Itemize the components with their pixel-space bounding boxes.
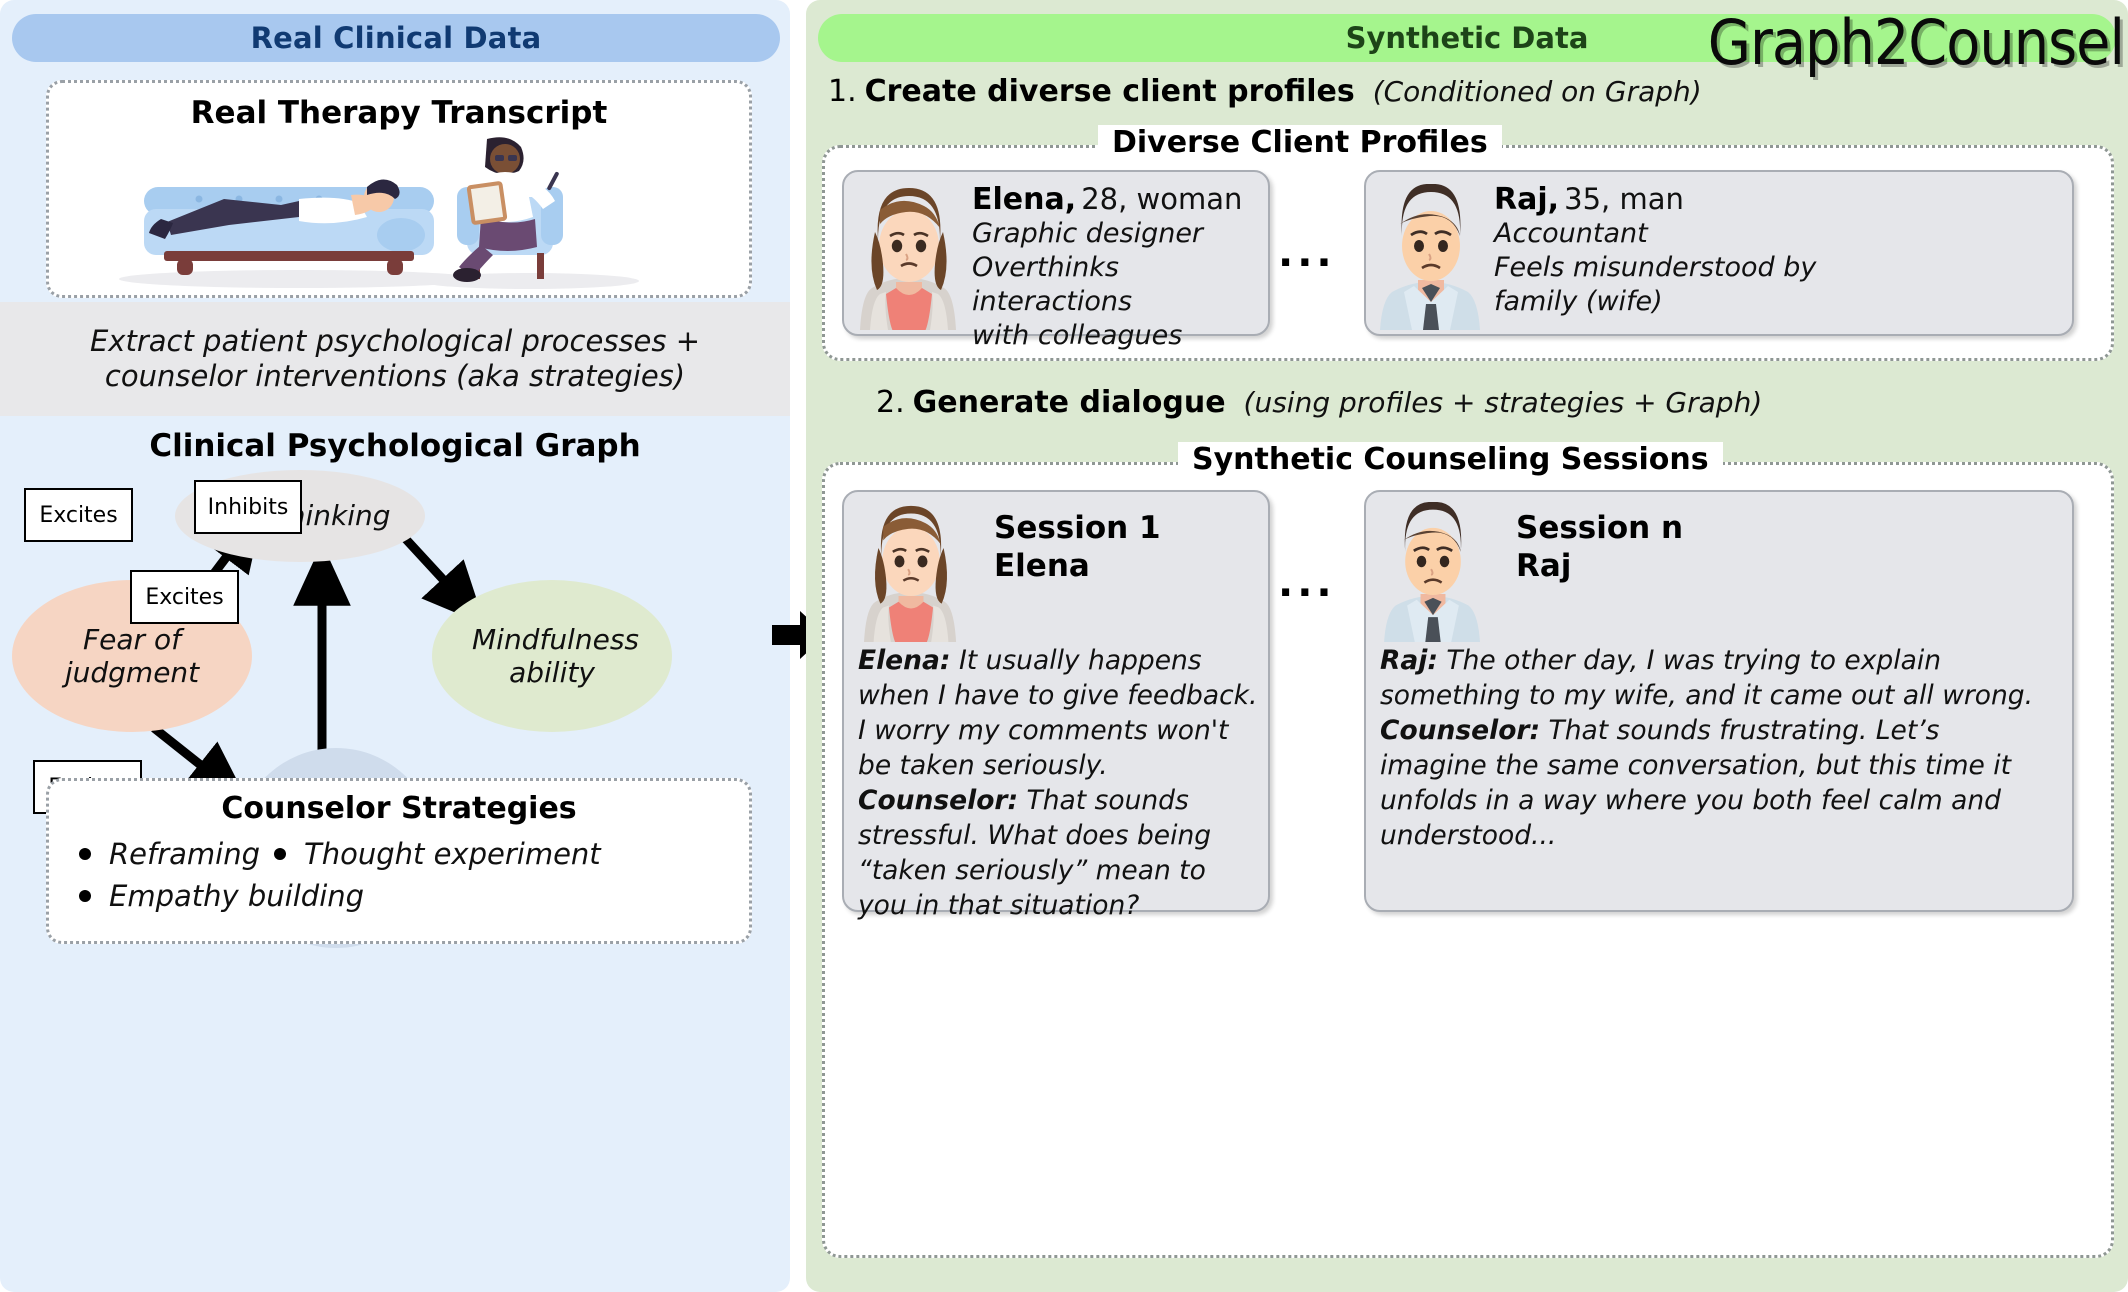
profile-line-3-elena: with colleagues — [972, 319, 1268, 353]
edge-label-excites-difficulty-overthinking: Excites — [130, 570, 239, 624]
figure-root: Real Clinical Data Real Therapy Transcri… — [0, 0, 2128, 1292]
step-1-number: 1. — [828, 74, 857, 109]
avatar-elena — [852, 502, 970, 642]
profile-line-3-raj: family (wife) — [1494, 285, 1816, 319]
dialogue-speaker-counselor: Counselor: — [858, 785, 1018, 816]
bullet-icon — [79, 890, 91, 902]
graph-node-fear-of-judgment-label: Fear of judgment — [57, 623, 207, 689]
real-therapy-transcript-title: Real Therapy Transcript — [49, 95, 749, 131]
session-title-line-2-elena: Elena — [994, 548, 1161, 586]
avatar-raj — [1374, 502, 1492, 642]
counselor-strategies-row-1: Reframing Thought experiment — [75, 837, 735, 871]
client-profile-card-elena[interactable]: Elena, 28, woman Graphic designer Overth… — [842, 170, 1270, 336]
extract-note-line-2: counselor interventions (aka strategies) — [105, 359, 685, 394]
real-therapy-transcript-box: Real Therapy Transcript — [46, 80, 752, 298]
profile-name-row-elena: Elena, 28, woman — [972, 182, 1268, 217]
profile-line-1-raj: Accountant — [1494, 217, 1816, 251]
profile-name-raj: Raj, — [1494, 182, 1559, 217]
bullet-icon — [79, 848, 91, 860]
extract-note-band: Extract patient psychological processes … — [0, 302, 790, 416]
real-clinical-data-header: Real Clinical Data — [12, 14, 780, 62]
graph-node-mindfulness-ability: Mindfulness ability — [432, 580, 672, 732]
dialogue-turn-1-raj: Raj: The other day, I was trying to expl… — [1380, 644, 2040, 714]
step-1-label: Create diverse client profiles — [865, 74, 1355, 109]
dialogue-speaker-counselor: Counselor: — [1380, 715, 1540, 746]
step-1-note: (Conditioned on Graph) — [1373, 75, 1702, 108]
strategy-item-empathy-building: Empathy building — [109, 879, 364, 913]
session-title-line-1-raj: Session n — [1516, 510, 1683, 548]
synthetic-counseling-sessions-title: Synthetic Counseling Sessions — [1178, 442, 1723, 477]
sessions-ellipsis: ... — [1278, 560, 1336, 606]
profile-name-row-raj: Raj, 35, man — [1494, 182, 1816, 217]
synthetic-data-title: Synthetic Data — [1346, 21, 1589, 55]
edge-label-inhibits-overthinking-mindfulness: Inhibits — [194, 480, 302, 534]
profile-name-elena: Elena, — [972, 182, 1076, 217]
extract-note-line-1: Extract patient psychological processes … — [90, 324, 700, 359]
profile-line-2-elena: Overthinks interactions — [972, 251, 1268, 319]
dialogue-turn-2-raj: Counselor: That sounds frustrating. Let’… — [1380, 714, 2040, 854]
dialogue-speaker-raj: Raj: — [1380, 645, 1438, 676]
session-title-line-2-raj: Raj — [1516, 548, 1683, 586]
dialogue-text-raj-1: The other day, I was trying to explain s… — [1380, 645, 2033, 711]
graph-node-mindfulness-ability-label: Mindfulness ability — [472, 623, 632, 689]
dialogue-turn-2-elena: Counselor: That sounds stressful. What d… — [858, 784, 1258, 924]
session-card-raj[interactable]: Session n Raj Raj: The other day, I was … — [1364, 490, 2074, 912]
graph2counsel-logo: Graph2Counsel — [1708, 6, 2124, 79]
session-title-line-1-elena: Session 1 — [994, 510, 1161, 548]
synthetic-data-panel: Synthetic Data Graph2Counsel 1. Create d… — [806, 0, 2128, 1292]
dialogue-speaker-elena: Elena: — [858, 645, 951, 676]
counselor-strategies-box: Counselor Strategies Reframing Thought e… — [46, 778, 752, 944]
strategy-item-reframing: Reframing — [109, 837, 260, 871]
profiles-ellipsis: ... — [1278, 230, 1336, 276]
profile-line-2-raj: Feels misunderstood by — [1494, 251, 1816, 285]
profile-line-1-elena: Graphic designer — [972, 217, 1268, 251]
real-clinical-data-panel: Real Clinical Data Real Therapy Transcri… — [0, 0, 790, 1292]
client-profile-card-raj[interactable]: Raj, 35, man Accountant Feels misunderst… — [1364, 170, 2074, 336]
step-2-note: (using profiles + strategies + Graph) — [1244, 386, 1763, 419]
real-clinical-data-title: Real Clinical Data — [251, 21, 542, 55]
profile-meta-raj: 35, man — [1564, 182, 1684, 216]
bullet-icon — [274, 848, 286, 860]
clinical-psychological-graph-title: Clinical Psychological Graph — [0, 428, 790, 464]
step-2-heading: 2. Generate dialogue (using profiles + s… — [876, 385, 1762, 420]
therapy-session-illustration — [49, 139, 749, 289]
edge-label-excites-fear-overthinking: Excites — [24, 488, 133, 542]
dialogue-turn-1-elena: Elena: It usually happens when I have to… — [858, 644, 1258, 784]
counselor-strategies-row-2: Empathy building — [75, 879, 735, 913]
strategy-item-thought-experiment: Thought experiment — [304, 837, 601, 871]
clinical-psychological-graph: Overthinking Fear of judgment Mindfulnes… — [0, 470, 790, 780]
step-1-heading: 1. Create diverse client profiles (Condi… — [828, 74, 1702, 109]
avatar-raj — [1372, 184, 1490, 330]
counselor-strategies-title: Counselor Strategies — [49, 791, 749, 826]
step-2-label: Generate dialogue — [913, 385, 1226, 420]
diverse-client-profiles-title: Diverse Client Profiles — [1098, 125, 1502, 160]
profile-meta-elena: 28, woman — [1081, 182, 1242, 216]
avatar-elena — [850, 184, 968, 330]
step-2-number: 2. — [876, 385, 905, 420]
session-card-elena[interactable]: Session 1 Elena Elena: It usually happen… — [842, 490, 1270, 912]
